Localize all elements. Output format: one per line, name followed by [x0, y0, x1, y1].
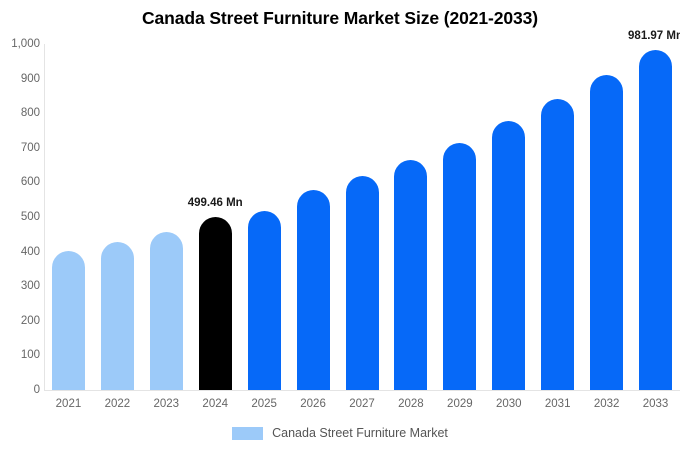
bar-2024[interactable] [199, 217, 232, 390]
y-axis-tick-label: 500 [0, 211, 40, 223]
y-axis-tick-label: 700 [0, 142, 40, 154]
y-axis-tick-label: 1,000 [0, 38, 40, 50]
data-label-2033: 981.97 Mn [616, 30, 680, 42]
bar-2023[interactable] [150, 232, 183, 390]
y-axis-tick-label: 600 [0, 176, 40, 188]
bar-2031[interactable] [541, 99, 574, 390]
y-axis-tick-label: 300 [0, 280, 40, 292]
y-axis-tick-label: 200 [0, 315, 40, 327]
y-axis: 01002003004005006007008009001,000 [0, 0, 40, 450]
bar-2025[interactable] [248, 211, 281, 390]
x-axis-tick-label: 2033 [626, 398, 680, 410]
y-axis-tick-label: 400 [0, 246, 40, 258]
bar-2022[interactable] [101, 242, 134, 390]
y-axis-tick-label: 100 [0, 349, 40, 361]
chart-title: Canada Street Furniture Market Size (202… [0, 8, 680, 29]
legend-swatch [232, 427, 263, 440]
y-axis-tick-label: 0 [0, 384, 40, 396]
bar-2027[interactable] [346, 176, 379, 390]
bar-2026[interactable] [297, 190, 330, 390]
plot-area [44, 44, 680, 390]
bar-2030[interactable] [492, 121, 525, 390]
chart-legend: Canada Street Furniture Market [0, 426, 680, 440]
bar-2028[interactable] [394, 160, 427, 390]
bar-2032[interactable] [590, 75, 623, 390]
y-axis-tick-label: 800 [0, 107, 40, 119]
bar-2021[interactable] [52, 251, 85, 390]
legend-label: Canada Street Furniture Market [272, 426, 448, 440]
bar-chart: Canada Street Furniture Market Size (202… [0, 0, 680, 450]
y-axis-tick-label: 900 [0, 73, 40, 85]
bar-2033[interactable] [639, 50, 672, 390]
data-label-2024: 499.46 Mn [175, 197, 255, 209]
x-axis-line [44, 390, 680, 391]
bar-2029[interactable] [443, 143, 476, 390]
